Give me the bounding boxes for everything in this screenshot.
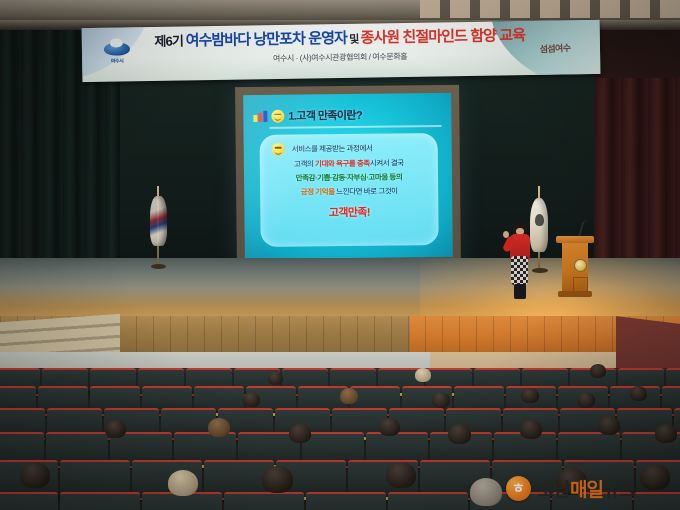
audience-member-head: [520, 420, 542, 439]
audience-member-head: [243, 392, 260, 407]
projection-screen: 1.고객 만족이란? 서비스를 제공받는 과정에서 고객의 기대와 욕구를 충족…: [243, 93, 453, 259]
slide-line-4: 긍정 기억을 느낀다면 바로 그것이: [301, 186, 398, 197]
podium-emblem-icon: [574, 259, 587, 272]
audience-member-head: [105, 420, 126, 438]
speaker-person: [506, 222, 536, 300]
slide-bars-icon: [253, 110, 267, 121]
audience-member-head: [470, 478, 502, 506]
audience-member-head: [379, 418, 400, 436]
smiley-icon-body: [272, 143, 285, 156]
yeosu-city-logo: 여수시: [96, 35, 139, 72]
audience-member-head: [521, 388, 539, 403]
event-banner: 여수시 제6기 여수밤바다 낭만포차 운영자 및 종사원 친절마인드 함양 교육…: [82, 20, 601, 82]
audience-member-head: [289, 424, 311, 443]
stage-spotlight: [420, 258, 680, 320]
audience-member-head: [598, 416, 620, 435]
audience-member-head: [268, 372, 283, 385]
honam-news-logo-icon: [506, 476, 531, 501]
slide-title-row: 1.고객 만족이란?: [253, 102, 443, 128]
slide-content-box: 서비스를 제공받는 과정에서 고객의 기대와 욕구를 충족시켜서 결국 만족감·…: [260, 133, 439, 247]
banner-title-prefix: 제6기: [154, 33, 185, 48]
slide-line-2: 고객의 기대와 욕구를 충족시켜서 결국: [294, 158, 404, 169]
flag-cloth-left: [150, 196, 167, 246]
auditorium-seat: [224, 492, 304, 510]
watermark-part2: 매일: [570, 480, 603, 501]
auditorium-seat: [0, 492, 58, 510]
audience-member-head: [448, 424, 471, 444]
yeosu-brand-logo: 섬섬여수: [523, 33, 586, 62]
slide-line-3: 만족감·기쁨·감동·자부심·고마움 등의: [296, 172, 403, 183]
audience-member-head: [590, 364, 606, 378]
speaker-legs: [514, 284, 526, 299]
audience-member-head: [262, 466, 293, 493]
slide-line-2a: 고객의: [294, 159, 315, 168]
slide-title: 1.고객 만족이란?: [288, 107, 362, 124]
slide-line-2b: 기대와 욕구를 충족: [315, 159, 370, 169]
slide-line-1: 서비스를 제공받는 과정에서: [292, 143, 373, 154]
korean-national-flag: [148, 196, 170, 258]
banner-title-blue: 여수밤바다 낭만포차 운영자: [186, 30, 348, 50]
audience-member-head: [208, 418, 230, 437]
podium-top: [556, 236, 594, 243]
audience-member-head: [168, 470, 198, 496]
auditorium-seat: [306, 492, 386, 510]
flag-emblem-icon: [535, 214, 544, 226]
speaker-dress: [511, 256, 528, 286]
banner-title-red: 종사원 친절마인드 함양 교육: [360, 27, 525, 47]
auditorium-seat: [60, 492, 140, 510]
slide-line-4b: 느낀다면 바로 그것이: [335, 186, 398, 196]
auditorium-photo: 여수시 제6기 여수밤바다 낭만포차 운영자 및 종사원 친절마인드 함양 교육…: [0, 0, 680, 510]
audience-member-head: [432, 392, 450, 408]
projection-screen-frame: 1.고객 만족이란? 서비스를 제공받는 과정에서 고객의 기대와 욕구를 충족…: [235, 85, 461, 267]
city-logo-label: 여수시: [111, 57, 124, 64]
watermark-part3: 뉴스: [603, 480, 636, 501]
city-emblem-icon: [104, 42, 130, 55]
ceiling-slats: [420, 0, 680, 18]
audience-member-head: [630, 386, 647, 401]
news-watermark: 호남매일뉴스: [506, 472, 666, 504]
watermark-part1: 호남: [537, 480, 570, 501]
speaker-hand: [503, 231, 509, 238]
slide-line1-row: 서비스를 제공받는 과정에서: [272, 142, 373, 156]
audience-member-head: [655, 424, 677, 443]
flag-base-left: [151, 264, 166, 269]
podium-base: [558, 291, 592, 297]
microphone-icon: [583, 219, 587, 223]
slide-line-2c: 시켜서 결국: [370, 158, 404, 167]
audience-member-head: [340, 388, 358, 404]
audience-member-head: [577, 392, 595, 408]
slide-final-text: 고객만족!: [329, 204, 370, 220]
smiley-icon: [271, 109, 284, 122]
watermark-text: 호남매일뉴스: [537, 475, 636, 502]
slide-line-4a: 긍정 기억을: [301, 187, 335, 196]
banner-title-conj: 및: [347, 34, 361, 46]
auditorium-seat: [388, 492, 468, 510]
podium-body: [562, 243, 588, 291]
podium: [556, 236, 594, 298]
audience-member-head: [386, 462, 416, 488]
audience-member-head: [415, 368, 431, 382]
audience-member-head: [20, 462, 50, 488]
